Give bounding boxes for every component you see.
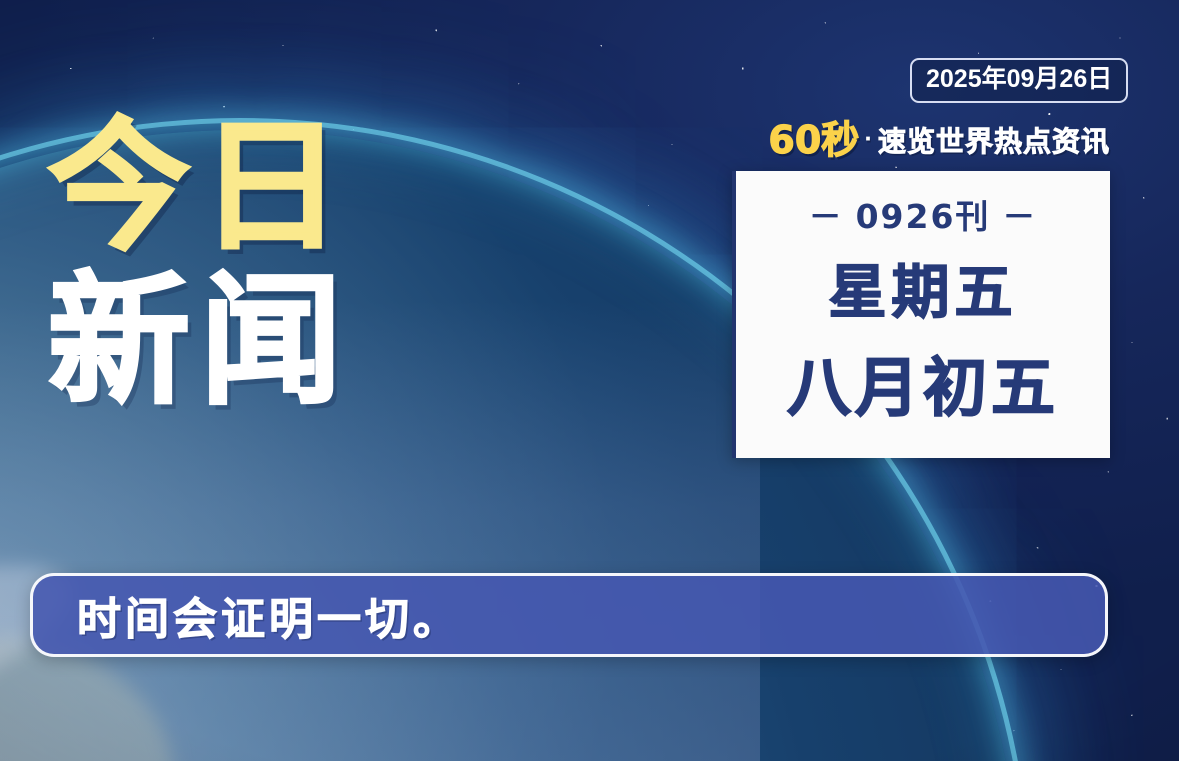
- tagline-seconds: 60秒: [768, 118, 859, 162]
- issue-number-row: －0926刊－: [797, 190, 1050, 238]
- lunar-date-label: 八月初五: [787, 356, 1059, 420]
- dash-right-decoration: －: [990, 197, 1049, 236]
- date-info-card: －0926刊－ 星期五 八月初五: [732, 171, 1110, 458]
- poster-canvas: 今日 新闻 2025年09月26日 60秒·速览世界热点资讯 －0926刊－ 星…: [0, 0, 1179, 761]
- tagline: 60秒·速览世界热点资讯: [732, 121, 1110, 159]
- tagline-text: 速览世界热点资讯: [878, 126, 1110, 157]
- right-info-column: 2025年09月26日 60秒·速览世界热点资讯 －0926刊－ 星期五 八月初…: [732, 58, 1110, 458]
- weekday-label: 星期五: [828, 264, 1017, 322]
- title-line-xinwen: 新闻: [48, 258, 352, 426]
- tagline-separator-dot: ·: [859, 123, 878, 153]
- quote-text: 时间会证明一切。: [77, 583, 461, 647]
- issue-number: 0926刊: [856, 197, 991, 236]
- date-badge: 2025年09月26日: [910, 58, 1128, 103]
- dash-left-decoration: －: [797, 197, 856, 236]
- quote-banner: 时间会证明一切。: [30, 573, 1108, 657]
- poster-title: 今日 新闻: [48, 104, 352, 425]
- title-line-jinri: 今日: [48, 104, 352, 272]
